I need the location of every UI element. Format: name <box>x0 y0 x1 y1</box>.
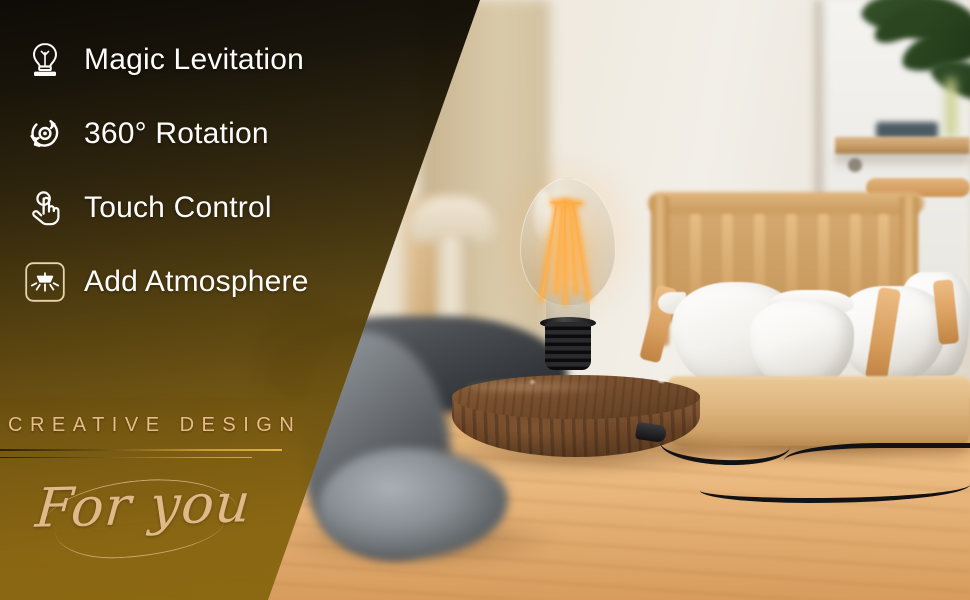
feature-item-360-rotation: 360° Rotation <box>22 108 402 160</box>
shelf-knob <box>848 158 862 172</box>
tagline-divider-lower <box>0 457 252 458</box>
base-light-speck <box>658 378 665 383</box>
touch-hand-icon <box>22 185 68 231</box>
atmosphere-lamp-icon <box>22 259 68 305</box>
tagline-script-text: For you <box>33 471 253 540</box>
feature-list: Magic Levitation 360° Rotation <box>22 34 402 330</box>
product-feature-banner: Magic Levitation 360° Rotation <box>0 0 970 600</box>
feature-item-touch-control: Touch Control <box>22 182 402 234</box>
tagline-divider-upper <box>0 449 282 451</box>
base-highlight <box>466 379 616 395</box>
wooden-chair-rail <box>648 192 924 214</box>
feature-item-magic-levitation: Magic Levitation <box>22 34 402 86</box>
rotation-360-icon <box>22 111 68 157</box>
plant-stem <box>946 78 956 138</box>
bulb-glass-reflection <box>534 190 552 242</box>
tagline-block: CREATIVE DESIGN For you <box>0 414 330 437</box>
tagline-kicker: CREATIVE DESIGN <box>0 414 330 437</box>
base-light-speck <box>530 380 535 384</box>
feature-label: Add Atmosphere <box>84 265 309 299</box>
levitating-edison-bulb <box>520 178 616 368</box>
bulb-screw-cap <box>545 322 591 370</box>
feature-label: Touch Control <box>84 191 272 225</box>
bulb-filament <box>564 200 566 304</box>
feature-label: 360° Rotation <box>84 117 269 151</box>
feature-label: Magic Levitation <box>84 43 304 77</box>
tagline-script: For you <box>33 471 253 540</box>
background-lamp-stem <box>436 236 470 328</box>
feature-item-add-atmosphere: Add Atmosphere <box>22 256 402 308</box>
wall-shelf <box>835 137 970 154</box>
levitating-bulb-icon <box>22 37 68 83</box>
